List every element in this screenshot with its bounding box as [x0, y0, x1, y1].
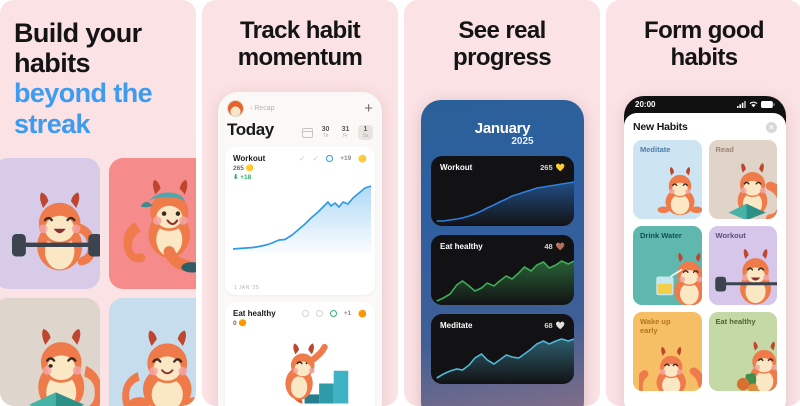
day-strip: 30 Th 31 Fr 1 Sa [302, 125, 373, 140]
sheet-title: New Habits [633, 121, 688, 133]
progress-ring-icon[interactable] [330, 310, 337, 317]
habit-option-drink-water[interactable]: Drink Water [633, 226, 702, 305]
day-weekday: Sa [358, 133, 373, 139]
progress-card-header: Meditate 68 🤍 [431, 314, 574, 330]
habit-score-value: 265 [233, 165, 244, 172]
squirrel-eating-icon [725, 337, 778, 391]
habit-delta: +1 [344, 310, 351, 317]
recap-label: Recap [254, 105, 274, 112]
illustration-card-workout [0, 158, 100, 289]
habit-emoji: 🟡 [358, 155, 367, 163]
page-title: See real progress [404, 18, 600, 72]
squirrel-waking-icon [639, 339, 702, 391]
squirrel-meditating-icon [647, 159, 702, 219]
day-weekday: Th [318, 133, 333, 139]
page-title: Build your habits beyond the streak [0, 18, 196, 139]
habit-status: +1 🟠 [302, 310, 367, 318]
headline-line-1: See real [404, 18, 600, 45]
habit-card-grid: Meditate [633, 140, 777, 391]
squirrel-running-icon [119, 172, 197, 276]
habit-title: Eat healthy [440, 242, 483, 251]
calendar-icon[interactable] [302, 128, 313, 138]
screenshot-gallery: Build your habits beyond the streak [0, 0, 800, 406]
cellular-icon [737, 101, 746, 108]
habit-streak-value: +18 [240, 174, 251, 181]
habit-option-meditate[interactable]: Meditate [633, 140, 702, 219]
habit-card-eat-healthy[interactable]: Eat healthy +1 🟠 0 🟠 [225, 302, 375, 406]
habit-value: 48 🤎 [544, 242, 565, 251]
panel-track-momentum: Track habit momentum ‹ Recap + Today 30 … [202, 0, 398, 406]
headline-line-3: beyond the [14, 78, 196, 108]
check-icon[interactable]: ✓ [299, 154, 306, 163]
page-title: Form good habits [606, 18, 800, 72]
battery-icon [761, 101, 775, 108]
panel-build-habits: Build your habits beyond the streak [0, 0, 196, 406]
panel-form-habits: Form good habits 20:00 [606, 0, 800, 406]
habit-area-chart [431, 259, 574, 305]
close-icon[interactable]: × [766, 122, 777, 133]
habit-status: ✓ ✓ +19 🟡 [299, 154, 367, 163]
habit-streak-arrow: ⬇ [233, 174, 238, 181]
headline-line-2: progress [404, 45, 600, 72]
squirrel-meditating-icon [117, 320, 197, 406]
habit-streak: ⬇ +18 [225, 172, 375, 181]
habit-title: Meditate [440, 321, 472, 330]
habit-option-label: Drink Water [640, 232, 682, 241]
habit-card-workout[interactable]: Workout ✓ ✓ +19 🟡 265 🟡 ⬇ +18 [225, 147, 375, 295]
habit-card-header: Eat healthy +1 🟠 [225, 302, 375, 318]
headline-line-2: momentum [202, 45, 398, 72]
day-weekday: Fr [338, 133, 353, 139]
habit-score-emoji: 🟠 [238, 320, 246, 327]
chart-x-axis-label: 1 JAN '25 [234, 285, 259, 291]
habit-value-number: 265 [540, 163, 553, 172]
illustration-card-reading [0, 298, 100, 406]
headline-line-2: habits [606, 45, 800, 72]
habit-area-chart [431, 338, 574, 384]
habit-option-label: Read [716, 146, 734, 155]
sheet-header: New Habits × [633, 121, 777, 133]
squirrel-reading-icon [717, 157, 778, 219]
progress-card-header: Eat healthy 48 🤎 [431, 235, 574, 251]
habit-value: 68 🤍 [544, 321, 565, 330]
panel-see-progress: See real progress January 2025 Workout 2… [404, 0, 600, 406]
habit-title: Workout [233, 154, 265, 163]
headline-line-1: Form good [606, 18, 800, 45]
habit-title: Eat healthy [233, 309, 276, 318]
habit-emoji: 🟠 [358, 310, 367, 318]
avatar[interactable] [227, 100, 244, 117]
habit-value: 265 💛 [540, 163, 565, 172]
day-chip[interactable]: 30 Th [318, 125, 333, 140]
habit-score: 0 🟠 [225, 318, 375, 327]
screen-title: Today [227, 120, 274, 140]
habit-card-header: Workout ✓ ✓ +19 🟡 [225, 147, 375, 163]
habit-option-label: Wake up early [640, 318, 688, 335]
phone-mockup-today: ‹ Recap + Today 30 Th 31 Fr [218, 92, 382, 406]
habit-option-label: Meditate [640, 146, 670, 155]
squirrel-workout-icon [12, 182, 100, 286]
habit-score-value: 0 [233, 320, 237, 327]
today-header: Today 30 Th 31 Fr 1 Sa [218, 119, 382, 147]
day-number: 30 [318, 126, 333, 133]
habit-emoji: 🤎 [556, 242, 565, 251]
status-time: 20:00 [635, 100, 655, 109]
habit-option-wake-up-early[interactable]: Wake up early [633, 312, 702, 391]
wifi-icon [749, 101, 758, 108]
day-chip-selected[interactable]: 1 Sa [358, 125, 373, 140]
headline-line-1: Build your [14, 18, 196, 48]
habit-title: Workout [440, 163, 472, 172]
day-number: 1 [358, 126, 373, 133]
habit-score: 265 🟡 [225, 163, 375, 172]
habit-option-workout[interactable]: Workout [709, 226, 778, 305]
habit-area-chart [225, 185, 375, 257]
add-habit-button[interactable]: + [364, 101, 373, 116]
squirrel-reading-icon [10, 320, 100, 406]
check-icon[interactable]: ✓ [313, 154, 320, 163]
habit-score-emoji: 🟡 [246, 165, 254, 172]
progress-card-eat-healthy[interactable]: Eat healthy 48 🤎 [431, 235, 574, 305]
squirrel-drinking-icon [649, 247, 702, 305]
habit-emoji: 💛 [556, 163, 565, 172]
app-topbar: ‹ Recap + [218, 92, 382, 119]
habit-option-label: Eat healthy [716, 318, 756, 327]
year-label: 2025 [471, 136, 574, 147]
status-indicators [737, 101, 775, 108]
page-title: Track habit momentum [202, 18, 398, 72]
habit-option-eat-healthy[interactable]: Eat healthy [709, 312, 778, 391]
status-bar: 20:00 [624, 96, 786, 113]
habit-option-label: Workout [716, 232, 746, 241]
new-habits-sheet: New Habits × Meditate [624, 113, 786, 406]
habit-option-read[interactable]: Read [709, 140, 778, 219]
empty-circle-icon[interactable] [316, 310, 323, 317]
empty-circle-icon[interactable] [302, 310, 309, 317]
habit-value-number: 68 [544, 321, 552, 330]
illustration-card-meditating [109, 298, 197, 406]
habit-emoji: 🤍 [556, 321, 565, 330]
progress-card-header: Workout 265 💛 [431, 156, 574, 172]
illustration-grid [0, 158, 196, 406]
habit-area-chart [431, 180, 574, 226]
habit-value-number: 48 [544, 242, 552, 251]
headline-line-4: streak [14, 109, 196, 139]
progress-card-meditate[interactable]: Meditate 68 🤍 [431, 314, 574, 384]
habit-delta: +19 [340, 155, 351, 162]
phone-mockup-new-habits: 20:00 [624, 96, 786, 406]
day-number: 31 [338, 126, 353, 133]
chevron-left-icon: ‹ [250, 105, 252, 112]
illustration-card-running [109, 158, 197, 289]
progress-card-workout[interactable]: Workout 265 💛 [431, 156, 574, 226]
headline-line-2: habits [14, 48, 196, 78]
back-to-recap-link[interactable]: ‹ Recap [250, 105, 275, 112]
progress-ring-icon[interactable] [326, 155, 333, 162]
squirrel-workout-icon [713, 245, 778, 305]
phone-mockup-progress: January 2025 Workout 265 💛 [421, 100, 584, 406]
squirrel-stairs-icon [225, 327, 375, 406]
day-chip[interactable]: 31 Fr [338, 125, 353, 140]
headline-line-1: Track habit [202, 18, 398, 45]
month-label: January [431, 100, 574, 137]
